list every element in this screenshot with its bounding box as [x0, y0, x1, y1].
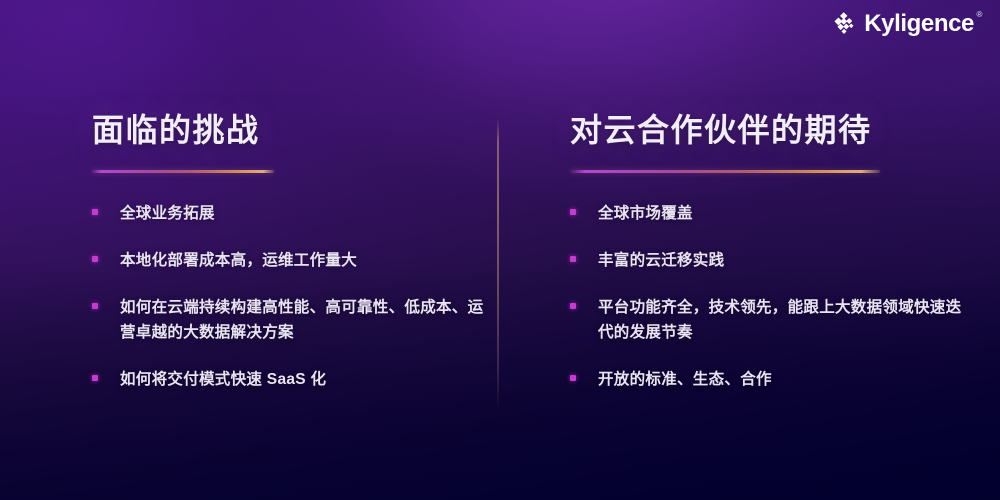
- bullet-list-expectations: 全球市场覆盖 丰富的云迁移实践 平台功能齐全，技术领先，能跟上大数据领域快速迭代…: [570, 201, 970, 393]
- bullet-dot-icon: [570, 303, 576, 309]
- bullet-text: 如何在云端持续构建高性能、高可靠性、低成本、运营卓越的大数据解决方案: [120, 295, 487, 345]
- list-item: 全球业务拓展: [92, 201, 487, 226]
- list-item: 本地化部署成本高，运维工作量大: [92, 248, 487, 273]
- bullet-text: 如何将交付模式快速 SaaS 化: [120, 367, 326, 392]
- title-underline-expectations: [570, 170, 880, 173]
- column-challenges: 面临的挑战 全球业务拓展 本地化部署成本高，运维工作量大 如何在云端持续构建高性…: [92, 112, 487, 392]
- bullet-dot-icon: [570, 375, 576, 381]
- bullet-dot-icon: [570, 256, 576, 262]
- list-item: 如何将交付模式快速 SaaS 化: [92, 367, 487, 392]
- bullet-text: 全球市场覆盖: [598, 201, 693, 226]
- bullet-text: 丰富的云迁移实践: [598, 248, 724, 273]
- content-columns: 面临的挑战 全球业务拓展 本地化部署成本高，运维工作量大 如何在云端持续构建高性…: [0, 0, 1000, 500]
- bullet-dot-icon: [92, 303, 98, 309]
- bullet-dot-icon: [92, 209, 98, 215]
- slide-canvas: Kyligence ® 面临的挑战 全球业务拓展 本地化部署成本高，运维工作量大: [0, 0, 1000, 500]
- list-item: 平台功能齐全，技术领先，能跟上大数据领域快速迭代的发展节奏: [570, 295, 970, 345]
- title-underline-challenges: [92, 170, 274, 173]
- bullet-text: 开放的标准、生态、合作: [598, 367, 772, 392]
- bullet-list-challenges: 全球业务拓展 本地化部署成本高，运维工作量大 如何在云端持续构建高性能、高可靠性…: [92, 201, 487, 393]
- bullet-text: 全球业务拓展: [120, 201, 215, 226]
- registered-trademark-symbol: ®: [977, 11, 983, 19]
- list-item: 如何在云端持续构建高性能、高可靠性、低成本、运营卓越的大数据解决方案: [92, 295, 487, 345]
- column-expectations: 对云合作伙伴的期待 全球市场覆盖 丰富的云迁移实践 平台功能齐全，技术领先，能跟…: [570, 112, 970, 392]
- brand-wordmark: Kyligence ®: [864, 12, 974, 36]
- bullet-text: 平台功能齐全，技术领先，能跟上大数据领域快速迭代的发展节奏: [598, 295, 970, 345]
- kyligence-diamond-mark-icon: [833, 12, 857, 36]
- bullet-dot-icon: [92, 256, 98, 262]
- brand-logo: Kyligence ®: [833, 12, 974, 36]
- column-title-challenges: 面临的挑战: [92, 112, 487, 149]
- brand-name-text: Kyligence: [864, 10, 974, 37]
- column-title-expectations: 对云合作伙伴的期待: [570, 112, 970, 149]
- list-item: 开放的标准、生态、合作: [570, 367, 970, 392]
- bullet-text: 本地化部署成本高，运维工作量大: [120, 248, 357, 273]
- list-item: 丰富的云迁移实践: [570, 248, 970, 273]
- bullet-dot-icon: [92, 375, 98, 381]
- bullet-dot-icon: [570, 209, 576, 215]
- list-item: 全球市场覆盖: [570, 201, 970, 226]
